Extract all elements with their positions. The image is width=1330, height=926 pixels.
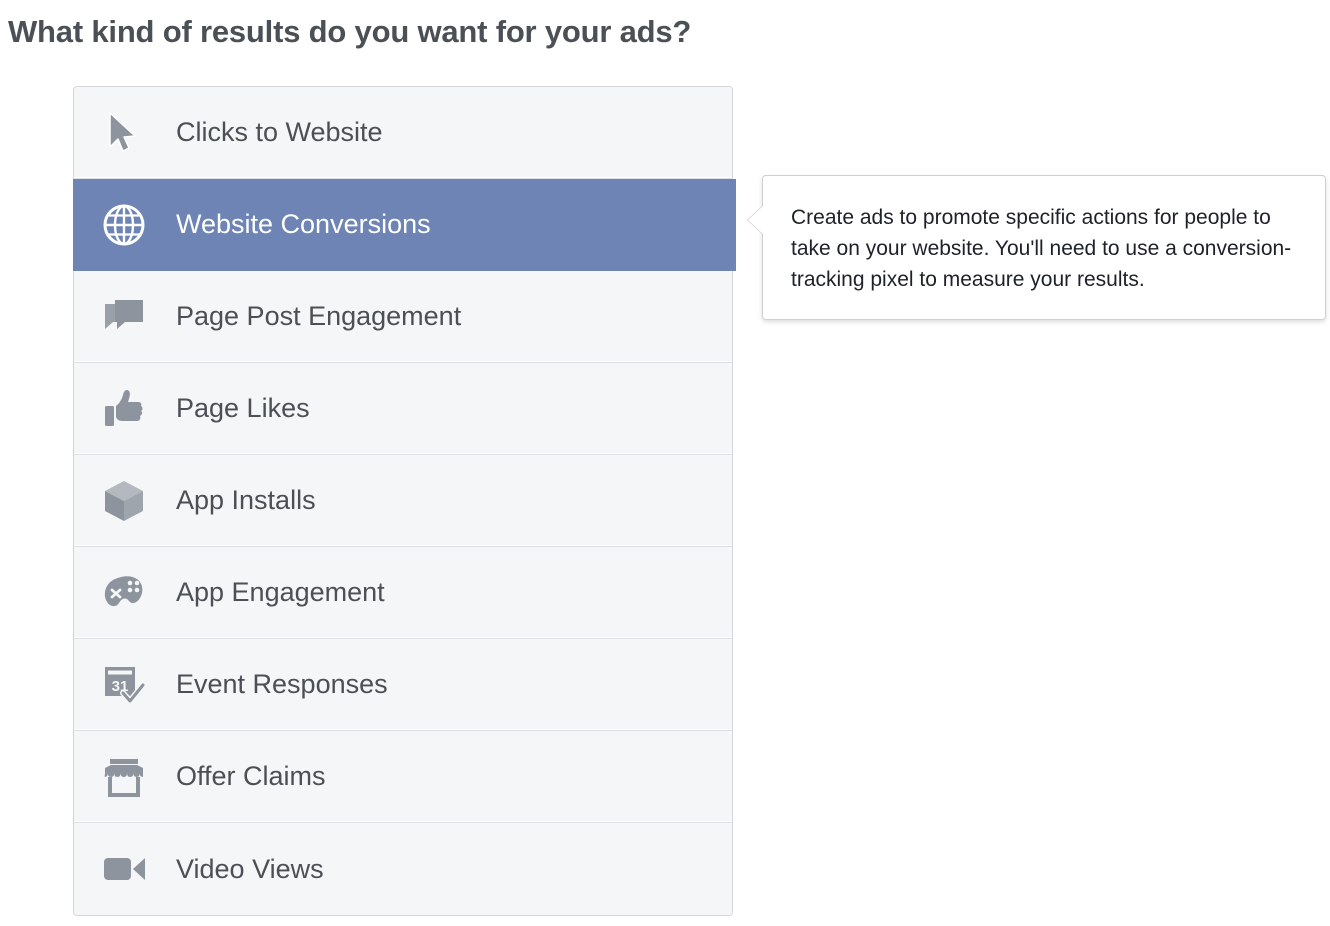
- objective-label: Clicks to Website: [176, 117, 383, 148]
- objective-row-video-views[interactable]: Video Views: [74, 823, 732, 915]
- objective-label: Event Responses: [176, 669, 388, 700]
- objective-label: Page Likes: [176, 393, 310, 424]
- cursor-arrow-icon: [98, 107, 150, 159]
- objective-label: App Installs: [176, 485, 316, 516]
- globe-icon: [98, 199, 150, 251]
- objective-row-event-responses[interactable]: 31 Event Responses: [74, 639, 732, 731]
- objective-label: App Engagement: [176, 577, 385, 608]
- objective-row-clicks-to-website[interactable]: Clicks to Website: [74, 87, 732, 179]
- objective-row-page-likes[interactable]: Page Likes: [74, 363, 732, 455]
- objective-list: Clicks to Website Website Conversions: [73, 86, 733, 916]
- thumbs-up-icon: [98, 383, 150, 435]
- objective-row-app-installs[interactable]: App Installs: [74, 455, 732, 547]
- box-icon: [98, 475, 150, 527]
- storefront-icon: [98, 751, 150, 803]
- page-title: What kind of results do you want for you…: [8, 14, 691, 50]
- calendar-check-icon: 31: [98, 659, 150, 711]
- tooltip-text: Create ads to promote specific actions f…: [791, 202, 1297, 295]
- objective-row-offer-claims[interactable]: Offer Claims: [74, 731, 732, 823]
- tooltip-arrow-inner-icon: [748, 205, 764, 235]
- speech-bubbles-icon: [98, 291, 150, 343]
- objective-row-app-engagement[interactable]: App Engagement: [74, 547, 732, 639]
- objective-row-website-conversions[interactable]: Website Conversions: [73, 179, 736, 271]
- objective-label: Offer Claims: [176, 761, 326, 792]
- ad-objective-selection-page: What kind of results do you want for you…: [0, 0, 1330, 926]
- objective-label: Video Views: [176, 854, 324, 885]
- gamepad-icon: [98, 567, 150, 619]
- video-camera-icon: [98, 843, 150, 895]
- objective-row-page-post-engagement[interactable]: Page Post Engagement: [74, 271, 732, 363]
- objective-tooltip: Create ads to promote specific actions f…: [762, 175, 1326, 320]
- objective-label: Website Conversions: [176, 209, 431, 240]
- objective-label: Page Post Engagement: [176, 301, 461, 332]
